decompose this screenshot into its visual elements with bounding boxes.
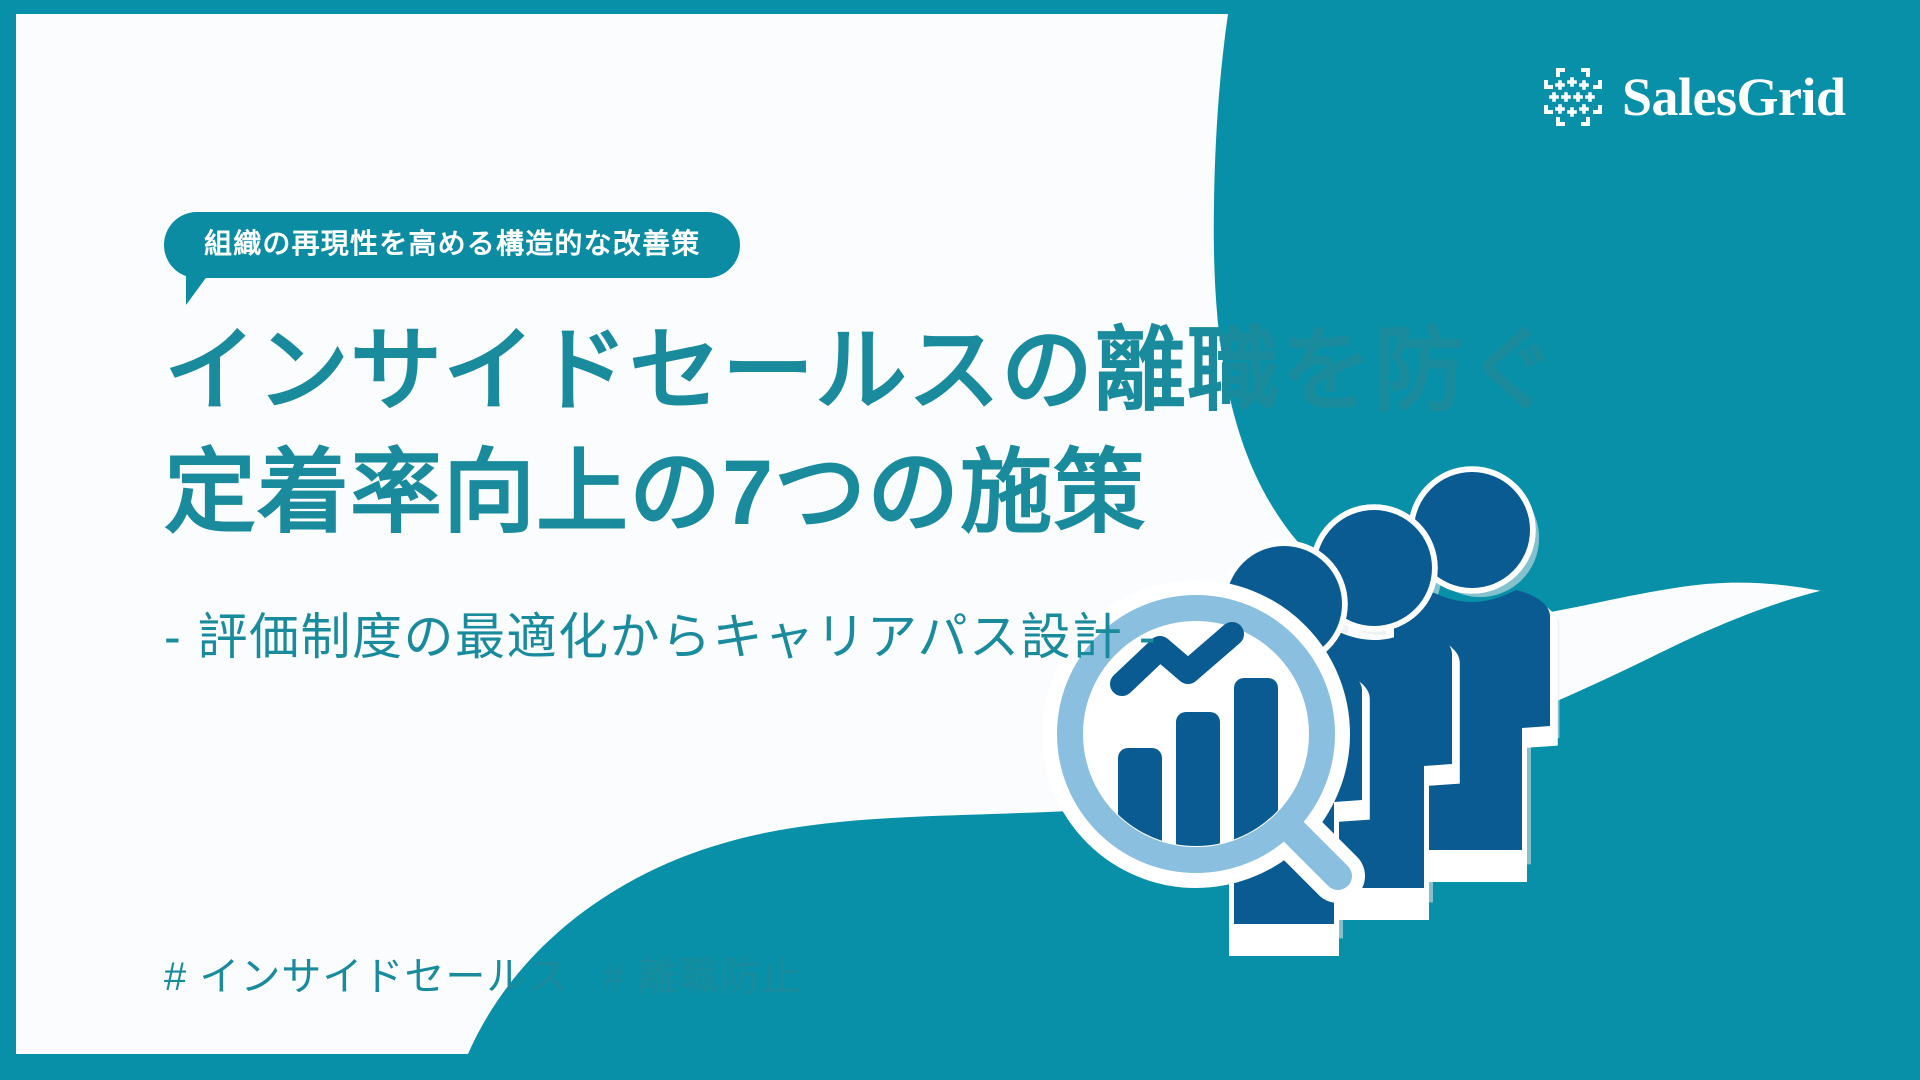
page-title: インサイドセールスの離職を防ぐ 定着率向上の7つの施策 <box>164 310 1559 555</box>
slide-root: SalesGrid 組織の再現性を高める構造的な改善策 インサイドセールスの離職… <box>0 0 1920 1080</box>
page-subtitle: - 評価制度の最適化からキャリアパス設計 - <box>164 597 1157 669</box>
logo-wordmark: SalesGrid <box>1622 70 1846 124</box>
eyebrow-badge: 組織の再現性を高める構造的な改善策 <box>164 212 740 278</box>
page-title-line-1: インサイドセールスの離職を防ぐ <box>164 310 1559 432</box>
badge-tail-icon <box>186 275 208 305</box>
grid-dots-icon <box>1542 66 1604 128</box>
eyebrow-badge-label: 組織の再現性を高める構造的な改善策 <box>164 212 740 278</box>
hashtag-item-2[interactable]: # 離職防止 <box>602 944 801 1002</box>
hashtag-list: # インサイドセールス # 離職防止 <box>164 944 802 1002</box>
page-title-line-2: 定着率向上の7つの施策 <box>164 432 1559 554</box>
brand-logo[interactable]: SalesGrid <box>1542 66 1846 128</box>
chart-bar-2 <box>1176 712 1220 858</box>
slide-canvas: SalesGrid 組織の再現性を高める構造的な改善策 インサイドセールスの離職… <box>16 14 1920 1054</box>
hashtag-item-1[interactable]: # インサイドセールス <box>164 944 568 1002</box>
